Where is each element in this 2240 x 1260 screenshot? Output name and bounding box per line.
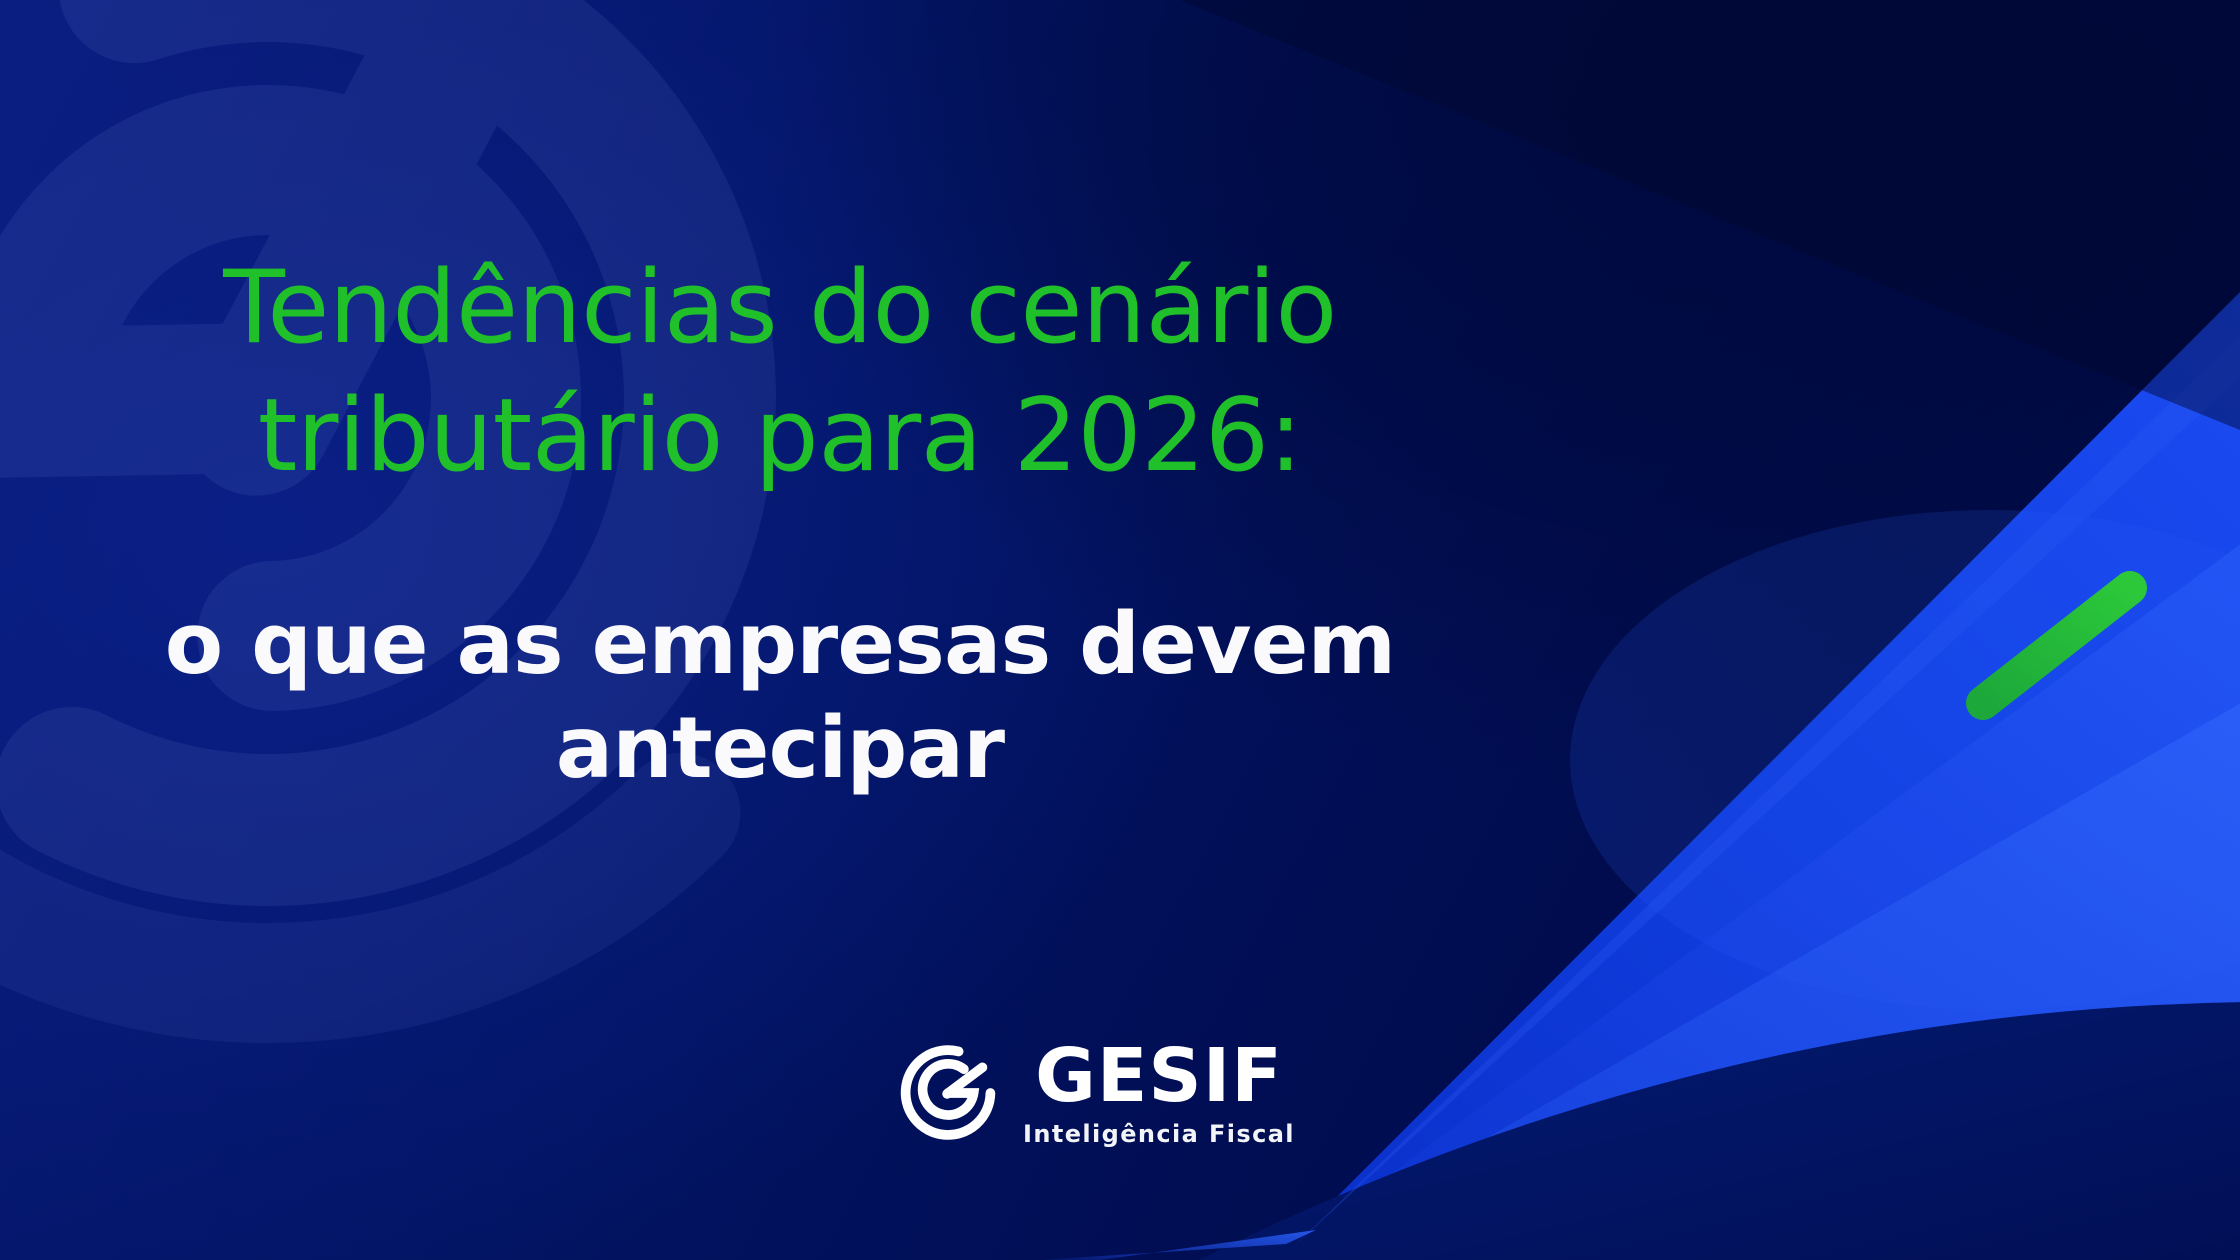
slide-content: Tendências do cenário tributário para 20… — [0, 0, 1560, 1260]
headline-line-2: tributário para 2026: — [115, 371, 1445, 499]
subheadline-line-2: antecipar — [110, 697, 1450, 801]
slide-canvas: Tendências do cenário tributário para 20… — [0, 0, 2240, 1260]
headline-line-1: Tendências do cenário — [223, 248, 1337, 366]
gesif-logo-lockup: GESIF Inteligência Fiscal — [895, 1038, 1295, 1148]
fan-highlight-bloom — [1570, 510, 2240, 1010]
subheadline: o que as empresas devem antecipar — [110, 593, 1450, 800]
gesif-wordmark: GESIF Inteligência Fiscal — [1023, 1040, 1295, 1148]
gesif-name: GESIF — [1035, 1040, 1283, 1113]
gesif-tagline: Inteligência Fiscal — [1023, 1120, 1295, 1148]
headline: Tendências do cenário tributário para 20… — [115, 243, 1445, 500]
gesif-g-mark-icon — [895, 1040, 1001, 1146]
green-diagonal-dash — [1983, 588, 2130, 703]
subheadline-line-1: o que as empresas devem — [165, 595, 1396, 694]
